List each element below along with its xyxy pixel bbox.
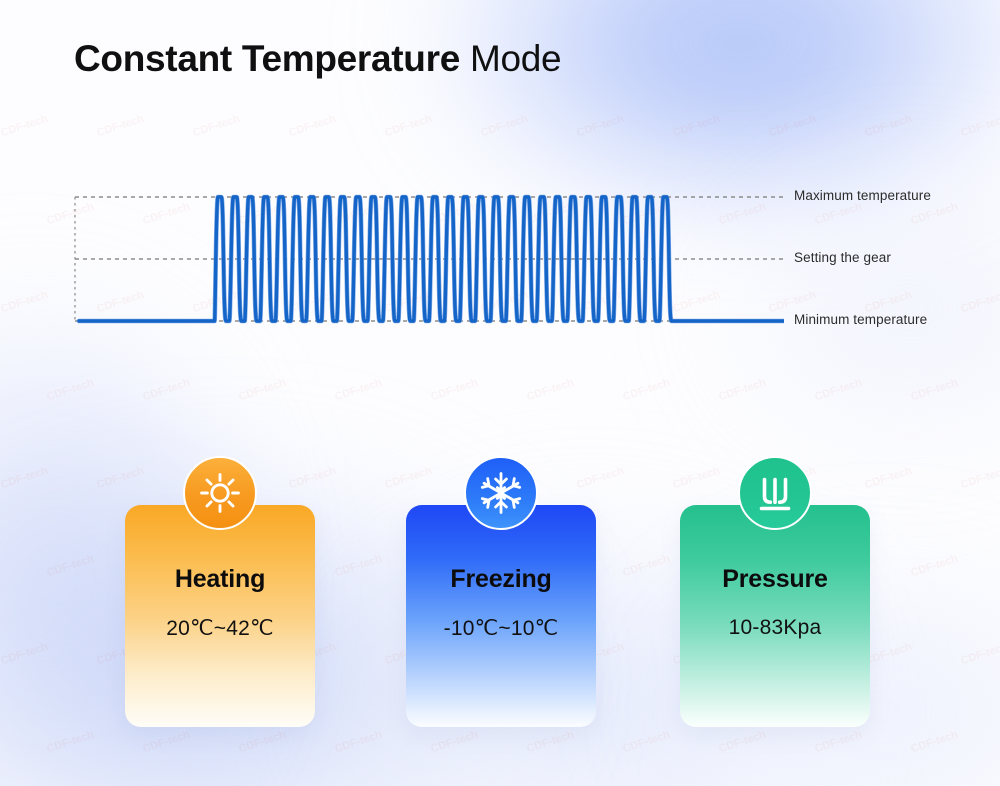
card-pressure[interactable]: Pressure 10-83Kpa <box>680 505 870 727</box>
watermark-text: CDF-tech <box>959 641 1000 668</box>
label-setting-the-gear: Setting the gear <box>794 250 891 265</box>
watermark-text: CDF-tech <box>863 465 913 492</box>
watermark-text: CDF-tech <box>525 729 575 756</box>
label-minimum-temperature: Minimum temperature <box>794 312 927 327</box>
card-pressure-value: 10-83Kpa <box>729 616 822 640</box>
watermark-text: CDF-tech <box>671 465 721 492</box>
watermark-text: CDF-tech <box>45 729 95 756</box>
watermark-text: CDF-tech <box>95 113 145 140</box>
watermark-text: CDF-tech <box>287 113 337 140</box>
label-maximum-temperature: Maximum temperature <box>794 188 931 203</box>
snowflake-icon <box>464 456 538 530</box>
watermark-text: CDF-tech <box>429 377 479 404</box>
card-heating-content: Heating 20℃~42℃ <box>125 505 315 727</box>
page-title-light: Mode <box>470 38 561 79</box>
watermark-text: CDF-tech <box>429 729 479 756</box>
watermark-text: CDF-tech <box>717 729 767 756</box>
watermark-text: CDF-tech <box>0 113 50 140</box>
snowflake-icon-glyph <box>478 470 524 516</box>
gradient-blob-top-right <box>430 0 1000 180</box>
card-pressure-content: Pressure 10-83Kpa <box>680 505 870 727</box>
watermark-text: CDF-tech <box>863 641 913 668</box>
watermark-text: CDF-tech <box>479 113 529 140</box>
watermark-text: CDF-tech <box>287 465 337 492</box>
watermark-text: CDF-tech <box>0 465 50 492</box>
card-freezing-title: Freezing <box>450 565 551 594</box>
watermark-text: CDF-tech <box>383 465 433 492</box>
watermark-text: CDF-tech <box>0 641 50 668</box>
watermark-text: CDF-tech <box>525 377 575 404</box>
watermark-text: CDF-tech <box>191 113 241 140</box>
card-freezing[interactable]: Freezing -10℃~10℃ <box>406 505 596 727</box>
watermark-text: CDF-tech <box>813 377 863 404</box>
watermark-text: CDF-tech <box>909 553 959 580</box>
watermark-text: CDF-tech <box>45 553 95 580</box>
watermark-text: CDF-tech <box>621 729 671 756</box>
page-title-strong: Constant Temperature <box>74 38 460 79</box>
watermark-text: CDF-tech <box>959 465 1000 492</box>
chart-annotation-labels: Maximum temperature Setting the gear Min… <box>794 185 1000 335</box>
watermark-text: CDF-tech <box>575 113 625 140</box>
watermark-text: CDF-tech <box>621 553 671 580</box>
waveform-svg <box>74 185 784 330</box>
pressure-icon-glyph <box>751 469 799 517</box>
watermark-text: CDF-tech <box>237 377 287 404</box>
watermark-text: CDF-tech <box>959 113 1000 140</box>
slide-canvas: CDF-techCDF-techCDF-techCDF-techCDF-tech… <box>0 0 1000 786</box>
card-heating-title: Heating <box>175 565 265 594</box>
watermark-text: CDF-tech <box>333 553 383 580</box>
watermark-text: CDF-tech <box>575 465 625 492</box>
temperature-waveform-chart <box>74 185 784 330</box>
card-freezing-value: -10℃~10℃ <box>444 616 559 641</box>
watermark-text: CDF-tech <box>813 729 863 756</box>
card-heating-value: 20℃~42℃ <box>166 616 274 641</box>
watermark-text: CDF-tech <box>333 729 383 756</box>
watermark-text: CDF-tech <box>0 289 50 316</box>
watermark-text: CDF-tech <box>909 729 959 756</box>
card-freezing-content: Freezing -10℃~10℃ <box>406 505 596 727</box>
watermark-text: CDF-tech <box>863 113 913 140</box>
card-heating[interactable]: Heating 20℃~42℃ <box>125 505 315 727</box>
page-title: Constant Temperature Mode <box>74 38 561 80</box>
sun-icon <box>183 456 257 530</box>
watermark-text: CDF-tech <box>909 377 959 404</box>
watermark-text: CDF-tech <box>767 113 817 140</box>
watermark-text: CDF-tech <box>383 113 433 140</box>
watermark-text: CDF-tech <box>621 377 671 404</box>
watermark-text: CDF-tech <box>671 113 721 140</box>
card-pressure-title: Pressure <box>722 565 827 594</box>
watermark-text: CDF-tech <box>45 377 95 404</box>
watermark-text: CDF-tech <box>237 729 287 756</box>
sun-icon-glyph <box>198 471 242 515</box>
watermark-text: CDF-tech <box>333 377 383 404</box>
watermark-text: CDF-tech <box>141 377 191 404</box>
watermark-text: CDF-tech <box>141 729 191 756</box>
pressure-icon <box>738 456 812 530</box>
watermark-text: CDF-tech <box>717 377 767 404</box>
watermark-text: CDF-tech <box>95 465 145 492</box>
